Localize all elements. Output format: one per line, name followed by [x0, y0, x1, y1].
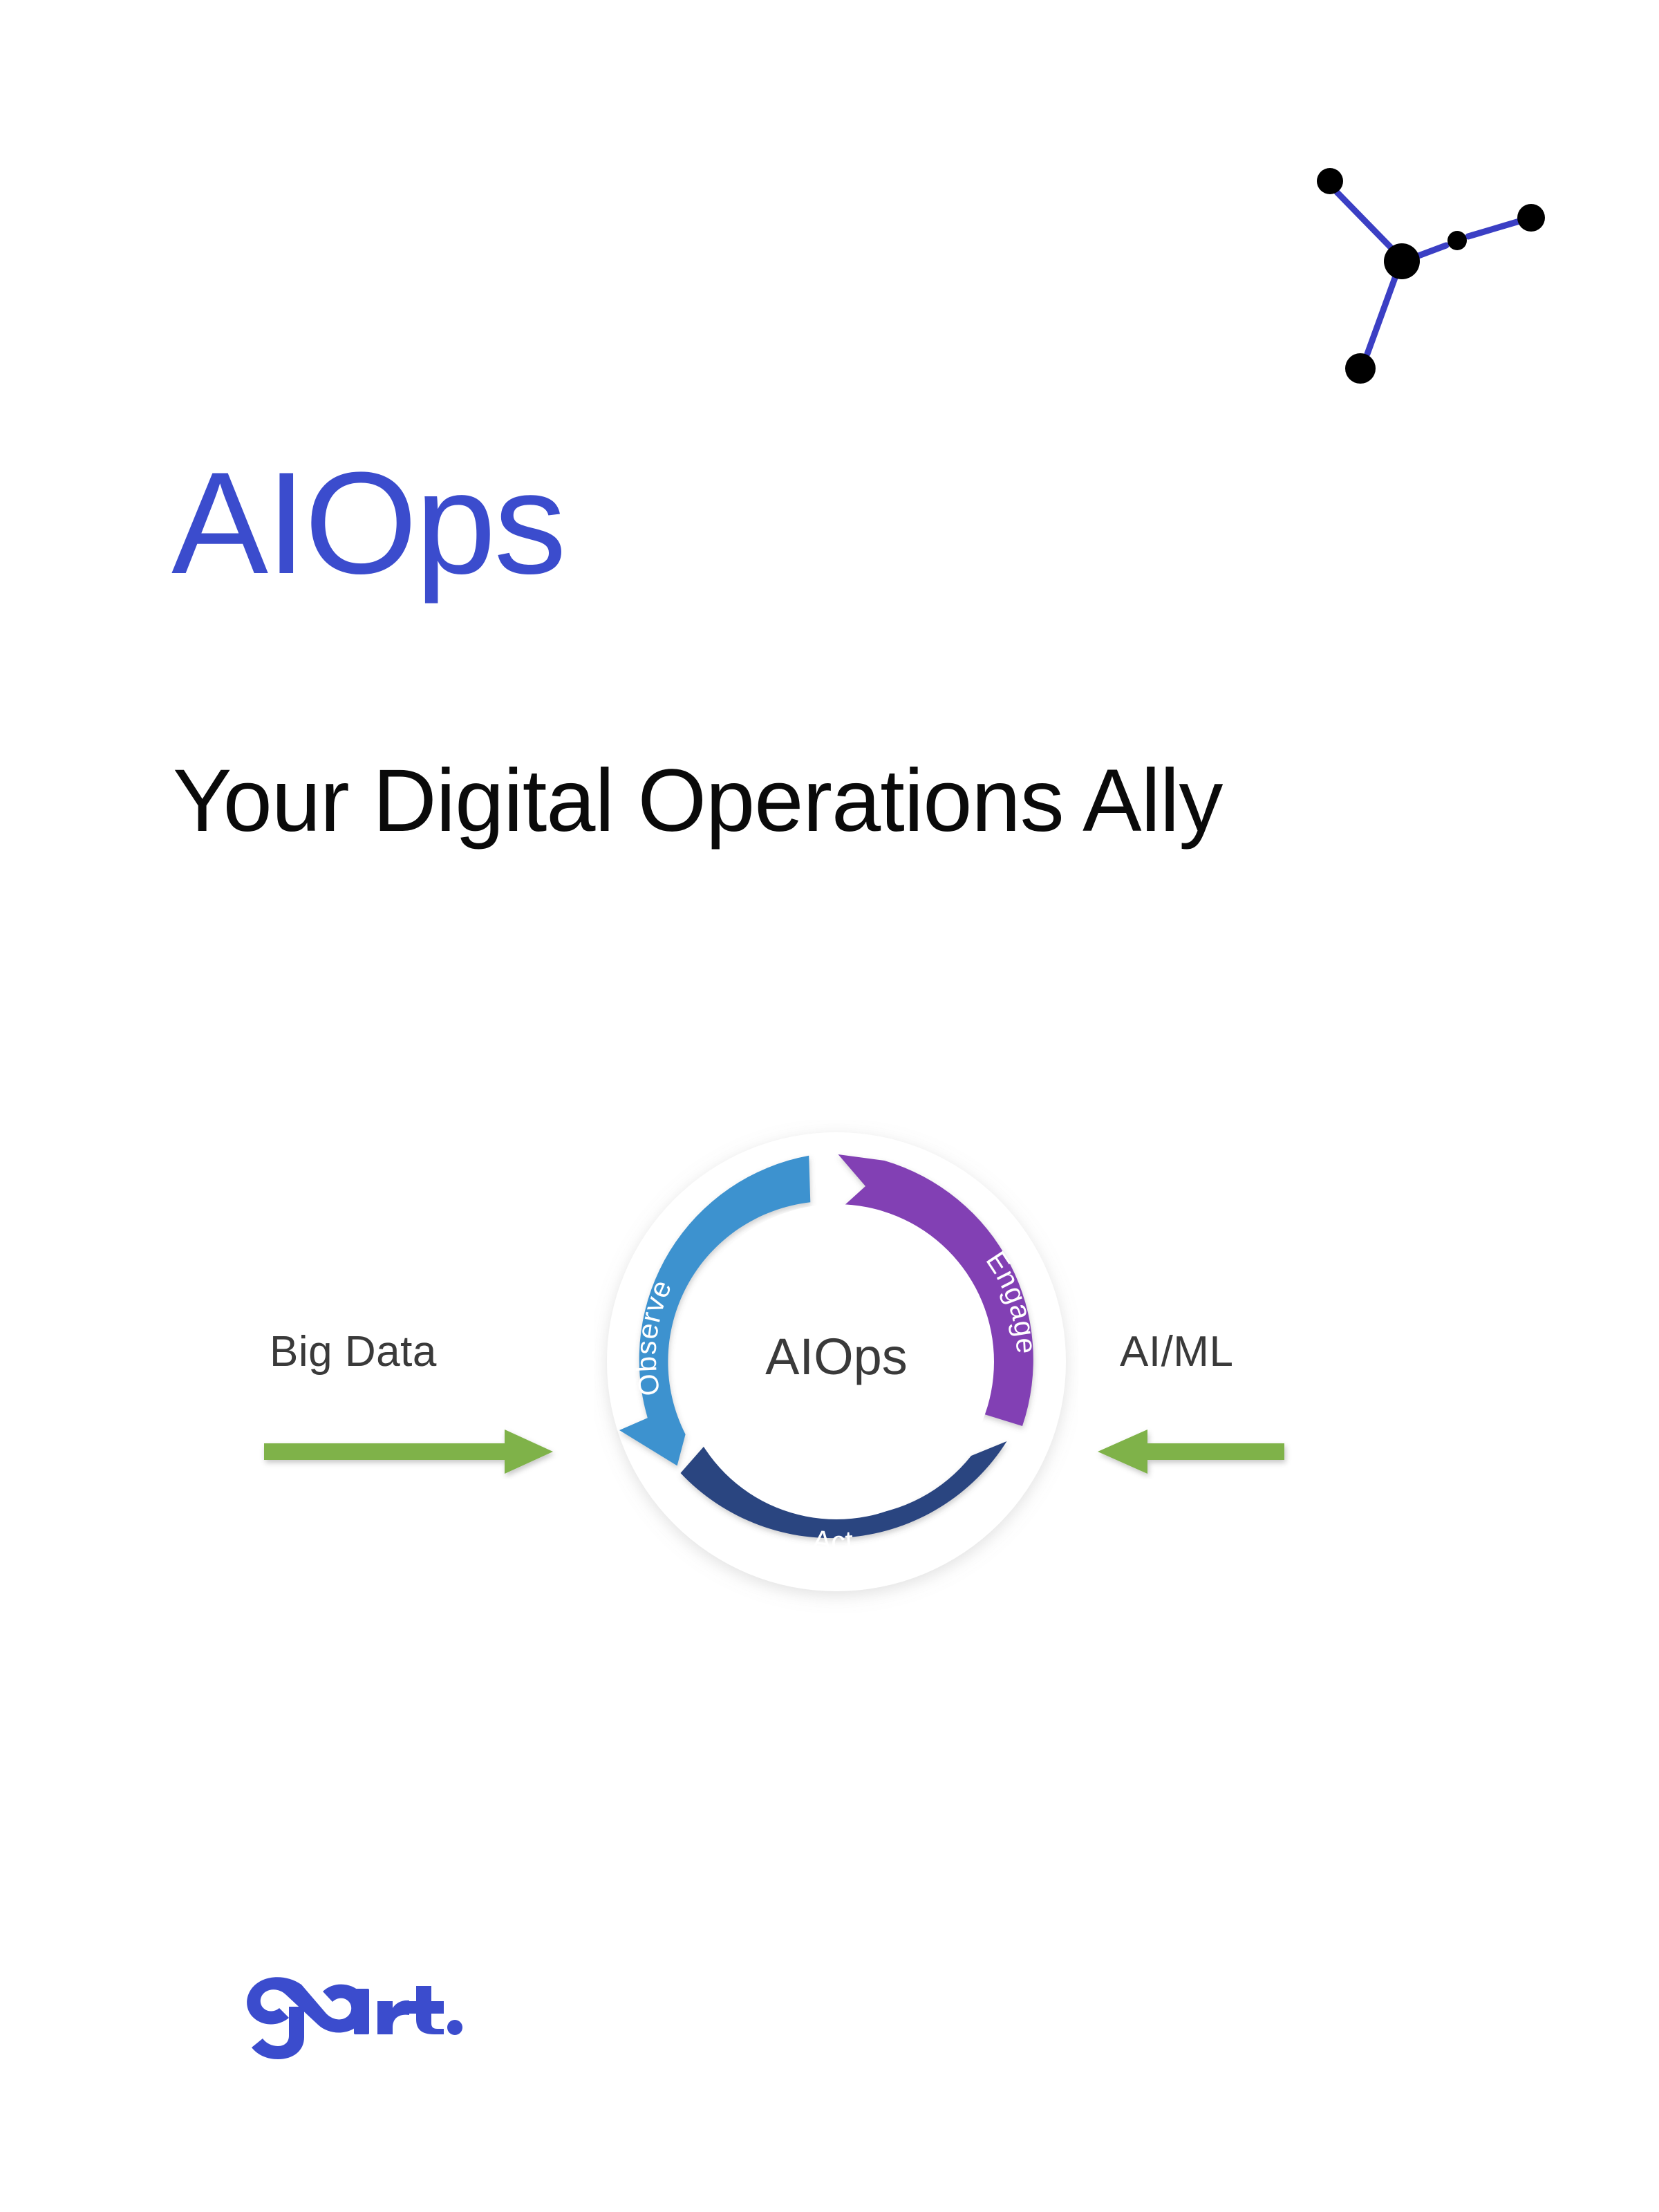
constellation-graphic [1279, 131, 1569, 408]
edge-hub-mid [1418, 245, 1446, 256]
constellation-nodes [1317, 168, 1545, 384]
page-root: AIOps Your Digital Operations Ally Big D… [0, 0, 1659, 2212]
gart-wordmark-icon [247, 1977, 462, 2059]
gart-logo[interactable] [235, 1974, 463, 2063]
cycle-center-label: AIOps [765, 1328, 908, 1385]
ai-ml-arrow-icon [1092, 1424, 1300, 1479]
node-top-left [1317, 168, 1343, 194]
big-data-arrow-icon [249, 1424, 567, 1479]
aiops-cycle-diagram: Big Data AI/ML [207, 1120, 1452, 1645]
segment-label-act: Act [812, 1524, 856, 1557]
node-mid-small [1447, 231, 1467, 250]
big-data-label: Big Data [270, 1327, 437, 1376]
page-subtitle: Your Digital Operations Ally [173, 743, 1486, 860]
edge-mid-right [1468, 221, 1519, 236]
ai-ml-label: AI/ML [1120, 1327, 1233, 1376]
aiops-cycle-ring: Observe Engage Act AIOps [594, 1120, 1078, 1618]
edge-hub-bottom [1367, 278, 1395, 354]
node-hub [1384, 243, 1420, 279]
page-title: AIOps [171, 451, 565, 596]
node-right [1517, 204, 1545, 232]
node-bottom [1345, 353, 1376, 384]
edge-hub-topleft [1337, 192, 1392, 249]
constellation-edges [1337, 192, 1519, 354]
